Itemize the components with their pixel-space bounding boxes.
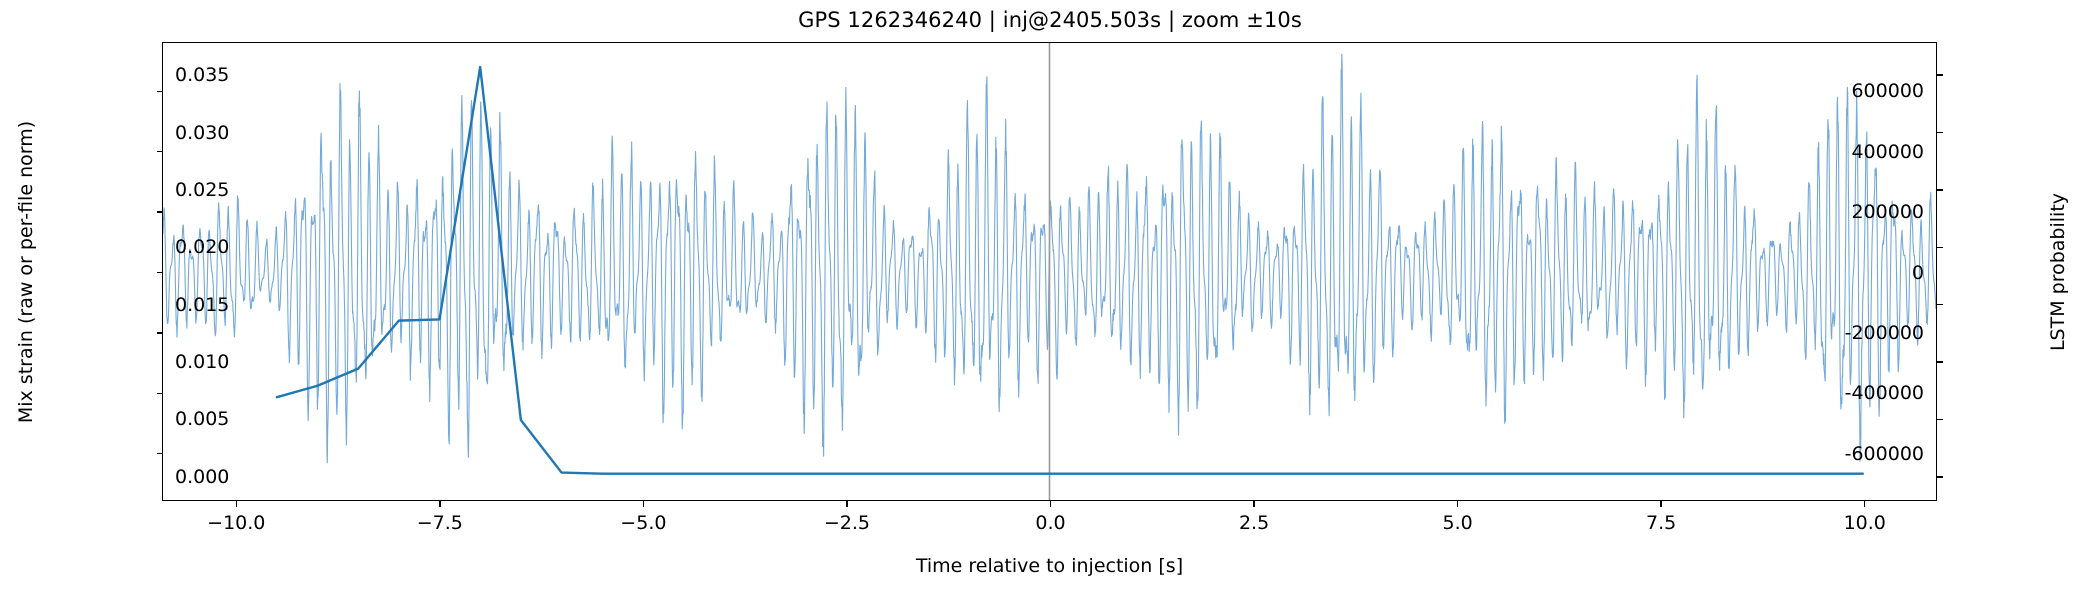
x-axis-tick-label: 5.0 [1443,512,1473,534]
x-axis-tick-label: 10.0 [1844,512,1886,534]
y-axis-left-tick-label: 200000 [1851,201,1924,223]
x-axis-tick [1050,500,1052,507]
x-axis-tick-label: −7.5 [417,512,463,534]
y-axis-right-tick-label: 0.000 [175,466,229,488]
y-axis-right-tick-label: 0.005 [175,408,229,430]
x-axis-tick [643,500,645,507]
y-axis-right-tick [1936,419,1943,421]
y-axis-right-tick [1936,476,1943,478]
x-axis-tick-label: −10.0 [207,512,265,534]
x-axis-tick-label: 2.5 [1239,512,1269,534]
y-axis-left-tick-label: -400000 [1845,382,1924,404]
x-axis-tick [1457,500,1459,507]
x-axis-tick-label: −2.5 [824,512,870,534]
y-axis-right-tick-label: 0.030 [175,122,229,144]
x-axis-tick-label: 7.5 [1646,512,1676,534]
chart-title: GPS 1262346240 | inj@2405.503s | zoom ±1… [0,8,2100,32]
x-axis-tick [236,500,238,507]
x-axis-tick [1253,500,1255,507]
y-axis-left-tick [157,332,164,334]
y-axis-right-tick [1936,74,1943,76]
y-axis-right-tick [1936,132,1943,134]
x-axis-label: Time relative to injection [s] [162,555,1937,577]
y-axis-right-tick [1936,361,1943,363]
plot-canvas [163,43,1936,500]
y-axis-right-tick [1936,304,1943,306]
y-axis-right-tick [1936,189,1943,191]
y-axis-left-tick [157,272,164,274]
y-axis-left-tick [157,151,164,153]
y-axis-right-tick-label: 0.015 [175,294,229,316]
y-axis-right-tick-label: 0.020 [175,236,229,258]
y-axis-left-tick [157,393,164,395]
y-axis-left-tick-label: 400000 [1851,141,1924,163]
y-axis-left-tick [157,91,164,93]
x-axis-tick-label: 0.0 [1035,512,1065,534]
plot-clip [163,43,1936,500]
y-axis-left-tick-label: -200000 [1845,322,1924,344]
y-axis-left-tick [157,211,164,213]
y-axis-left-tick-label: -600000 [1845,443,1924,465]
y-axis-left-tick-label: 600000 [1851,80,1924,102]
y-axis-left-tick [157,453,164,455]
x-axis-tick [1864,500,1866,507]
x-axis-tick [1660,500,1662,507]
x-axis-tick-label: −5.0 [620,512,666,534]
y-axis-right-tick-label: 0.035 [175,64,229,86]
x-axis-tick [846,500,848,507]
y-axis-right-tick-label: 0.025 [175,179,229,201]
y-axis-right-tick [1936,247,1943,249]
y-axis-left-label: Mix strain (raw or per-file norm) [14,42,38,501]
y-axis-left-tick-label: 0 [1912,262,1924,284]
x-axis-tick [439,500,441,507]
figure: GPS 1262346240 | inj@2405.503s | zoom ±1… [0,0,2100,600]
y-axis-right-label: LSTM probability [2046,42,2070,501]
y-axis-right-tick-label: 0.010 [175,351,229,373]
plot-area: 6000004000002000000-200000-400000-600000… [162,42,1937,501]
